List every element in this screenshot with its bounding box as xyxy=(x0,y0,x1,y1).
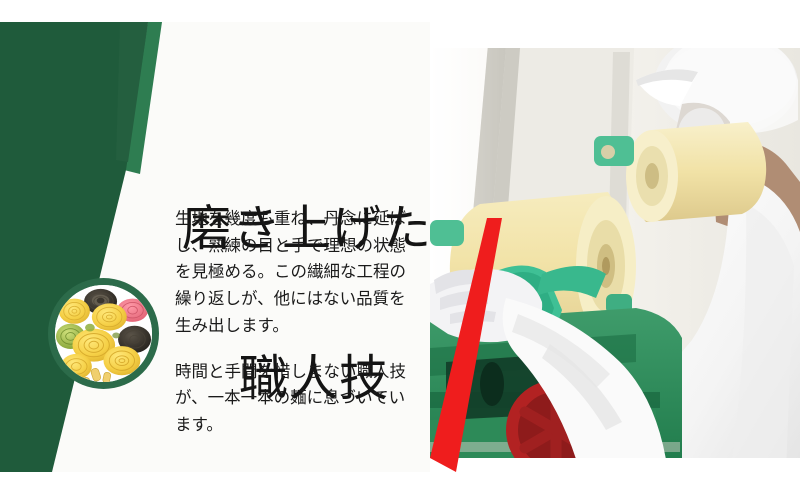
pasta-photo-badge xyxy=(48,278,159,389)
green-angle-shape xyxy=(0,22,200,472)
body-paragraph-1: 生地を幾度も重ね、丹念に延ばし、熟練の目と手で理想の状態を見極める。この繊細な工… xyxy=(175,206,413,340)
body-paragraph-2: 時間と手間を惜しまない職人技が、一本一本の麺に息づいています。 xyxy=(175,359,413,439)
pasta-photo-badge-image xyxy=(55,285,152,382)
slide-body: 生地を幾度も重ね、丹念に延ばし、熟練の目と手で理想の状態を見極める。この繊細な工… xyxy=(175,206,413,439)
slide-canvas: 磨き上げた 職人技 生地を幾度も重ね、丹念に延ばし、熟練の目と手で理想の状態を見… xyxy=(0,0,800,495)
factory-photo xyxy=(430,22,800,472)
